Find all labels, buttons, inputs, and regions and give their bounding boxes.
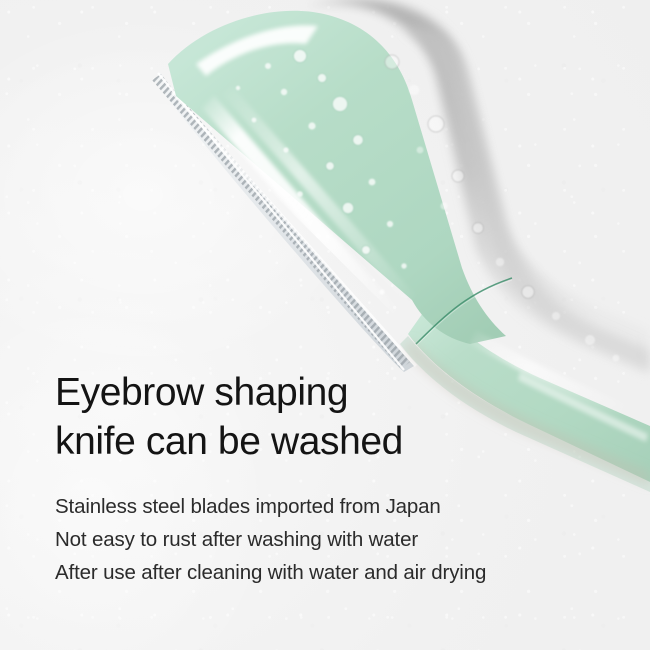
list-item: Not easy to rust after washing with wate…	[55, 523, 615, 556]
list-item: After use after cleaning with water and …	[55, 556, 615, 589]
feature-list: Stainless steel blades imported from Jap…	[55, 490, 615, 589]
list-item: Stainless steel blades imported from Jap…	[55, 490, 615, 523]
copy-block: Eyebrow shaping knife can be washed Stai…	[55, 368, 615, 589]
product-banner: Eyebrow shaping knife can be washed Stai…	[0, 0, 650, 650]
page-title: Eyebrow shaping knife can be washed	[55, 368, 615, 466]
